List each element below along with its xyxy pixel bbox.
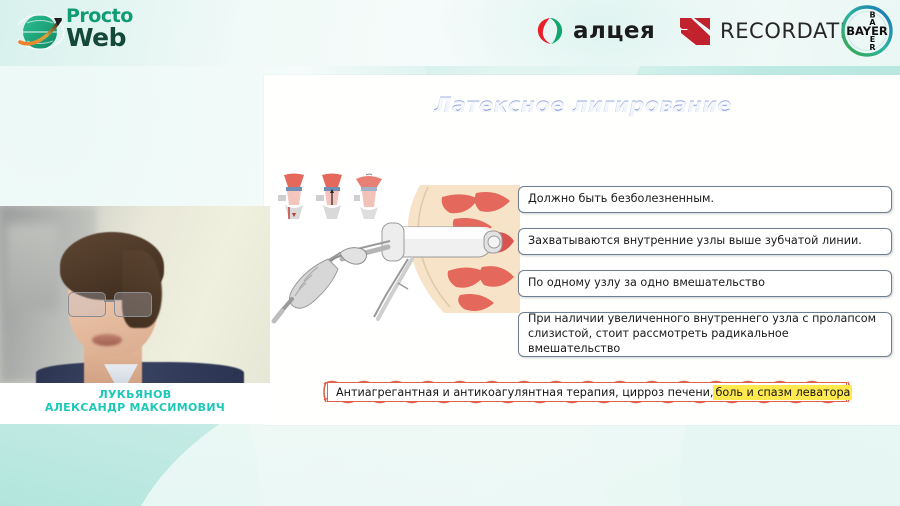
warning-box: Антиагрегантная и антикоагулянтная терап… — [322, 378, 852, 406]
statement-text: Должно быть безболезненным. — [528, 192, 714, 207]
bayer-cross-icon: BAYER B A E R — [839, 3, 895, 59]
statement-text: По одному узлу за одно вмешательство — [528, 276, 765, 291]
glasses-lens-right — [114, 292, 152, 317]
statement-box: Захватываются внутренние узлы выше зубча… — [518, 228, 892, 255]
slide-panel: Латексное лигирование — [264, 75, 900, 425]
proctoweb-wordmark: Procto Web — [66, 7, 140, 57]
statement-box: При наличии увеличенного внутреннего узл… — [518, 312, 892, 357]
latex-ligation-anoscope-illustration — [270, 167, 520, 332]
sponsor-logo-recordati[interactable]: RECORDATI — [678, 14, 847, 48]
statement-box: Должно быть безболезненным. — [518, 186, 892, 213]
recordati-wordmark: RECORDATI — [720, 19, 847, 43]
globe-icon — [18, 8, 66, 56]
svg-text:BAYER: BAYER — [846, 24, 888, 38]
video-wall-panel — [6, 224, 58, 310]
speaker-first-patronymic: АЛЕКСАНДР МАКСИМОВИЧ — [0, 401, 270, 414]
statement-text: При наличии увеличенного внутреннего узл… — [528, 312, 883, 356]
speaker-video-feed[interactable] — [0, 206, 270, 383]
recordati-chevron-icon — [678, 16, 712, 47]
warning-text-plain: Антиагрегантная и антикоагулянтная терап… — [336, 386, 713, 399]
svg-text:R: R — [869, 43, 875, 52]
glasses-icon — [68, 292, 156, 316]
svg-text:A: A — [869, 18, 876, 27]
alceya-swirl-icon — [536, 16, 564, 46]
speaker-last-name: ЛУКЬЯНОВ — [0, 388, 270, 401]
proctoweb-logo[interactable]: Procto Web — [18, 6, 138, 58]
statement-box: По одному узлу за одно вмешательство — [518, 270, 892, 297]
slide-title: Латексное лигирование — [264, 93, 900, 117]
speaker-nameplate: ЛУКЬЯНОВ АЛЕКСАНДР МАКСИМОВИЧ — [0, 383, 270, 424]
speaker-mouth — [92, 334, 122, 346]
sponsor-logo-bayer[interactable]: BAYER B A E R — [839, 3, 895, 59]
warning-text-highlight: боль и спазм леватора — [713, 385, 852, 400]
statement-text: Захватываются внутренние узлы выше зубча… — [528, 234, 862, 249]
sponsor-logo-alceya[interactable]: алцея — [536, 14, 655, 48]
glasses-lens-left — [68, 292, 106, 317]
brand-line-2: Web — [66, 25, 126, 50]
warning-text-container: Антиагрегантная и антикоагулянтная терап… — [327, 382, 847, 402]
presentation-viewer: Procto Web алцея RECORDATI — [0, 0, 900, 506]
alceya-wordmark: алцея — [573, 18, 655, 44]
